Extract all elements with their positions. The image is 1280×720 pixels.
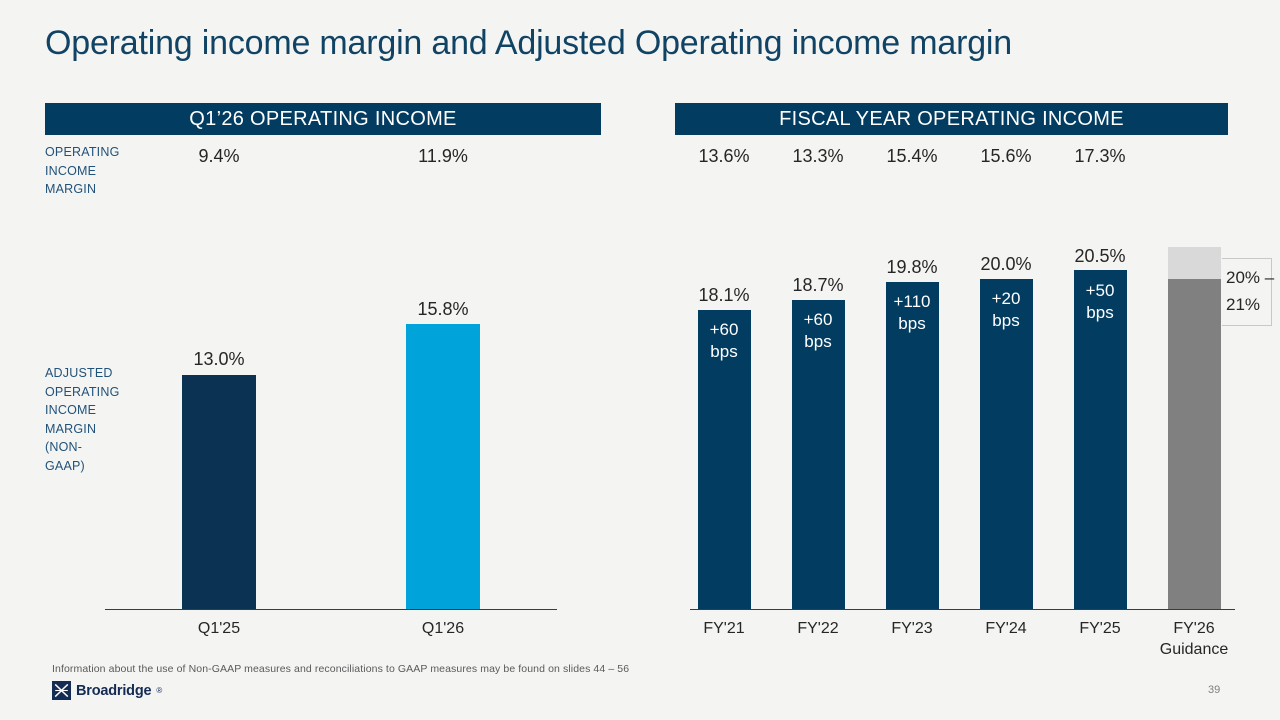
bps-delta-line1: +50 (1086, 280, 1115, 302)
bar-fy26-guidance[interactable] (1168, 279, 1221, 609)
bps-delta-line1: +20 (992, 288, 1021, 310)
bar-value-label: 13.0% (193, 349, 244, 370)
bps-delta-line1: +110 (893, 291, 930, 313)
bar-q126[interactable] (406, 324, 480, 608)
chart-fiscal-year-operating-income: 18.1%+60bpsFY'2118.7%+60bpsFY'2219.8%+11… (690, 230, 1235, 610)
operating-income-margin-value: 15.4% (886, 146, 937, 167)
bar-value-label: 18.1% (698, 285, 749, 306)
bar-bps-delta-label: +60bps (710, 319, 739, 363)
x-axis-line-left (105, 609, 557, 611)
registered-trademark-icon: ® (156, 686, 162, 695)
bps-delta-line2: bps (1086, 302, 1115, 324)
section-header-right-label: FISCAL YEAR OPERATING INCOME (779, 108, 1124, 131)
bps-delta-line2: bps (710, 341, 739, 363)
chart-q1-operating-income: 13.0%Q1'2515.8%Q1'26 (105, 230, 557, 610)
x-axis-tick-label: FY'21 (703, 618, 744, 639)
x-axis-tick-label: FY'25 (1079, 618, 1120, 639)
operating-income-margin-value: 15.6% (980, 146, 1031, 167)
section-header-q1-operating-income: Q1’26 OPERATING INCOME (45, 103, 601, 135)
footnote-text: Information about the use of Non-GAAP me… (52, 663, 629, 675)
operating-income-margin-value: 17.3% (1074, 146, 1125, 167)
bps-delta-line2: bps (893, 313, 930, 335)
bar-bps-delta-label: +60bps (804, 309, 833, 353)
operating-income-margin-value: 13.3% (792, 146, 843, 167)
broadridge-wordmark: Broadridge (76, 683, 151, 699)
bps-delta-line2: bps (804, 331, 833, 353)
x-axis-tick-label-line2: Guidance (1160, 639, 1229, 660)
bar-bps-delta-label: +50bps (1086, 280, 1115, 324)
bps-delta-line2: bps (992, 310, 1021, 332)
guidance-range-line2: 21% (1226, 291, 1274, 318)
x-axis-line-right (690, 609, 1235, 611)
x-axis-tick-label: Q1'25 (198, 618, 240, 639)
bar-q125[interactable] (182, 375, 256, 609)
operating-income-margin-value: 13.6% (698, 146, 749, 167)
bar-value-label: 20.5% (1074, 246, 1125, 267)
x-axis-tick-label: FY'23 (891, 618, 932, 639)
guidance-range-line1: 20% – (1226, 264, 1274, 291)
bar-value-label: 15.8% (417, 299, 468, 320)
bar-bps-delta-label: +20bps (992, 288, 1021, 332)
guidance-range-callout: 20% – 21% (1222, 258, 1272, 326)
guidance-range-text: 20% – 21% (1226, 264, 1274, 318)
x-axis-tick-label: Q1'26 (422, 618, 464, 639)
bps-delta-line1: +60 (710, 319, 739, 341)
section-header-fiscal-year-operating-income: FISCAL YEAR OPERATING INCOME (675, 103, 1228, 135)
bar-value-label: 20.0% (980, 254, 1031, 275)
page-title: Operating income margin and Adjusted Ope… (45, 24, 1012, 63)
x-axis-tick-label-line1: FY'26 (1160, 618, 1229, 639)
x-axis-tick-label: FY'24 (985, 618, 1026, 639)
x-axis-tick-label: FY'26Guidance (1160, 618, 1229, 660)
bar-value-label: 18.7% (792, 275, 843, 296)
operating-income-margin-values-right: 13.6%13.3%15.4%15.6%17.3% (0, 146, 1280, 170)
broadridge-logo: Broadridge ® (52, 681, 162, 700)
bar-bps-delta-label: +110bps (893, 291, 930, 335)
section-header-left-label: Q1’26 OPERATING INCOME (189, 108, 456, 131)
page-number: 39 (1208, 684, 1220, 696)
bps-delta-line1: +60 (804, 309, 833, 331)
bar-value-label: 19.8% (886, 257, 937, 278)
x-axis-tick-label: FY'22 (797, 618, 838, 639)
broadridge-mark-icon (52, 681, 71, 700)
